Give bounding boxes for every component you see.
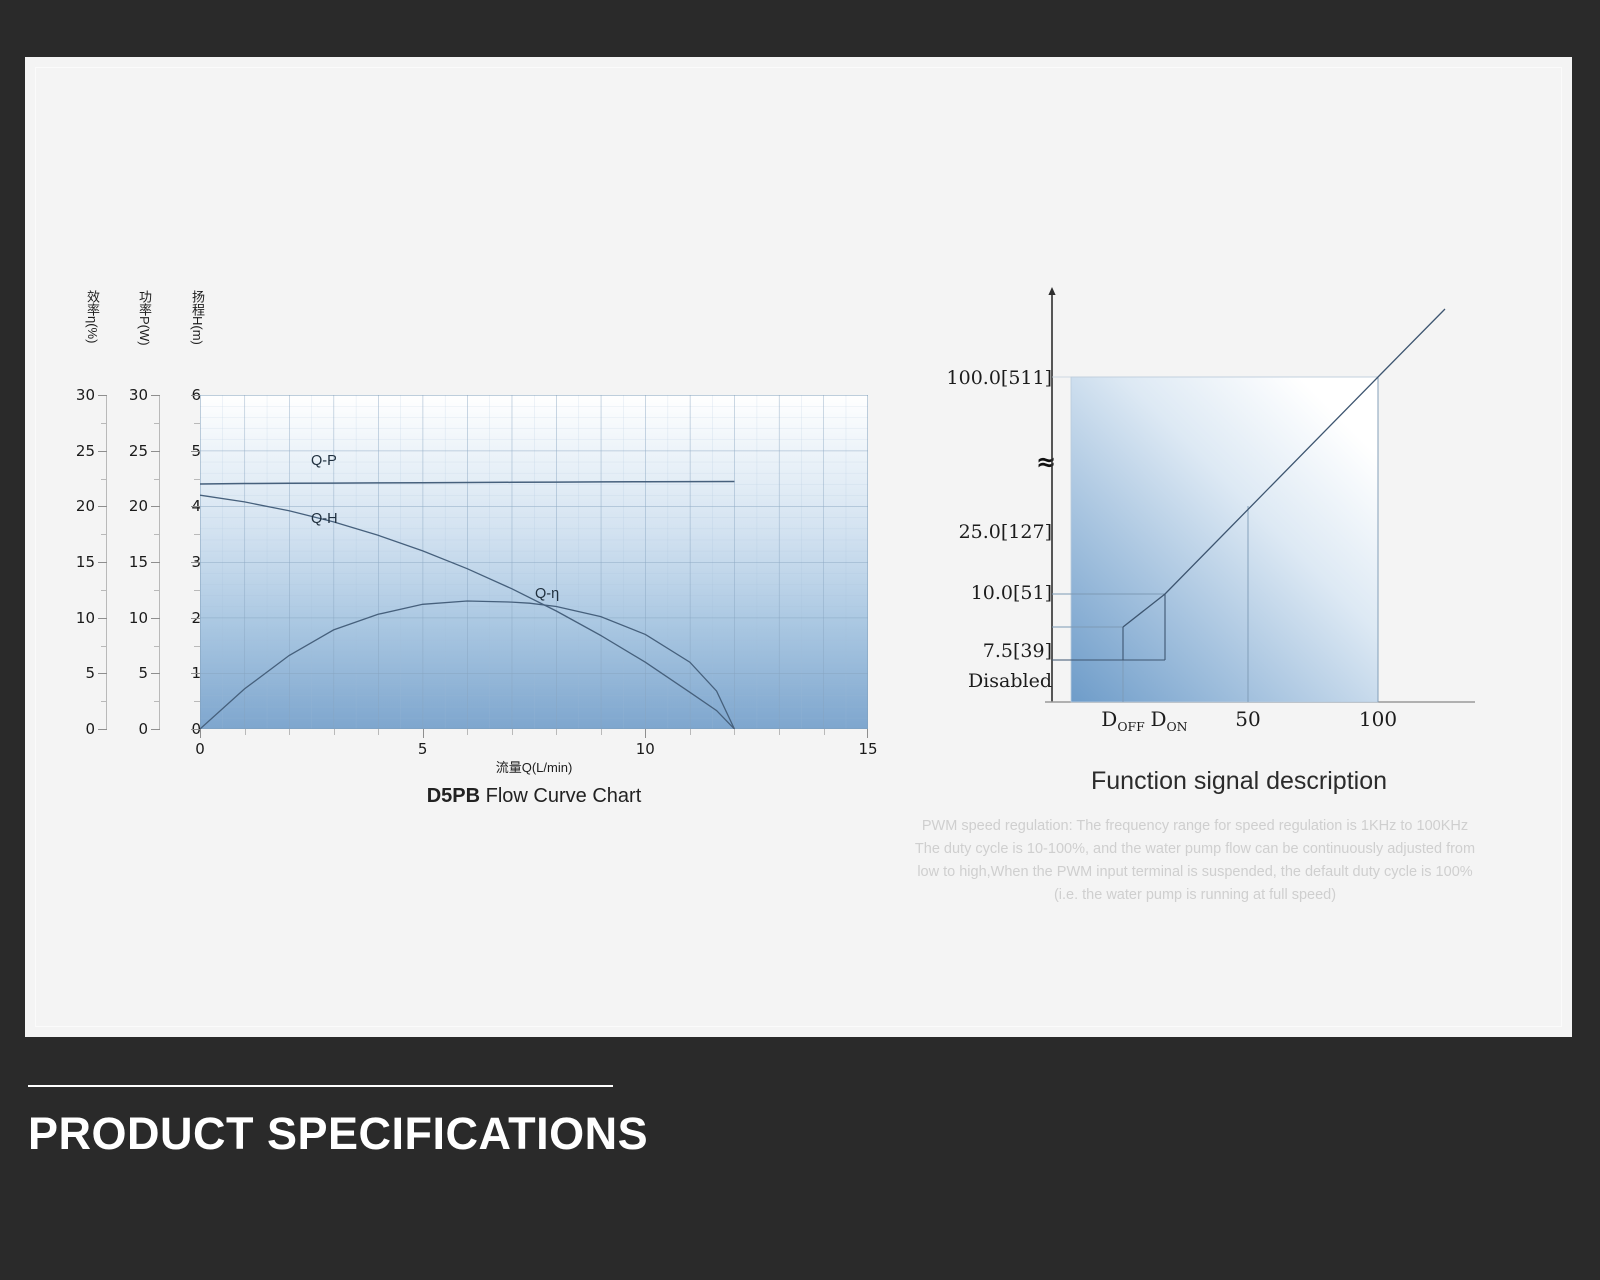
major-gridlines — [200, 395, 868, 729]
axis-tick — [824, 729, 825, 735]
pwm-diagram-title: Function signal description — [905, 767, 1572, 796]
axis-tick — [191, 395, 200, 396]
x-label-100: 100 — [1359, 707, 1397, 731]
axis-tick — [690, 729, 691, 735]
axis-tick — [512, 729, 513, 735]
axis-tick — [734, 729, 735, 735]
pwm-description-line-3: low to high,When the PWM input terminal … — [825, 861, 1565, 884]
tick-label: 15 — [108, 553, 148, 571]
axis-title-head: 扬程H(m) — [188, 290, 207, 385]
axis-tick — [423, 729, 424, 738]
pwm-description-line-2: The duty cycle is 10-100%, and the water… — [825, 838, 1565, 861]
series-label-qh: Q-H — [311, 511, 338, 527]
axis-tick — [601, 729, 602, 735]
axis-tick — [779, 729, 780, 735]
tick-label: 25 — [108, 442, 148, 460]
pwm-description-line-1: PWM speed regulation: The frequency rang… — [825, 815, 1565, 838]
axis-tick — [98, 729, 107, 730]
tick-label: 30 — [108, 386, 148, 404]
tick-label: 25 — [55, 442, 95, 460]
axis-tick — [191, 618, 200, 619]
axis-tick — [467, 729, 468, 735]
tick-label: 20 — [108, 497, 148, 515]
series-label-qeta: Q-η — [535, 586, 559, 602]
tick-label: 10 — [108, 609, 148, 627]
y-label-100: 100.0[511] — [947, 367, 1052, 389]
x-tick-label: 5 — [418, 740, 428, 758]
x-axis-ticks — [200, 729, 868, 739]
y-label-disabled: Disabled — [968, 670, 1052, 692]
axis-tick — [191, 729, 200, 730]
axis-tick — [867, 729, 868, 738]
pwm-x-axis-labels: DOFF DON 50 100 — [1045, 707, 1475, 747]
y-label-7-5: 7.5[39] — [983, 640, 1052, 662]
pwm-y-axis-labels: 100.0[511] ≈ 25.0[127] 10.0[51] 7.5[39] … — [905, 57, 1052, 757]
pwm-signal-diagram: 100.0[511] ≈ 25.0[127] 10.0[51] 7.5[39] … — [905, 57, 1572, 817]
axis-tick — [191, 673, 200, 674]
axis-tick — [191, 451, 200, 452]
tick-label: 0 — [108, 720, 148, 738]
axis-tick — [645, 729, 646, 738]
pwm-description: PWM speed regulation: The frequency rang… — [825, 815, 1565, 907]
tick-label: 15 — [55, 553, 95, 571]
pwm-description-line-4: (i.e. the water pump is running at full … — [825, 884, 1565, 907]
tick-label: 0 — [55, 720, 95, 738]
axis-tick — [191, 506, 200, 507]
series-label-qp: Q-P — [311, 453, 337, 469]
chart-title-model: D5PB — [427, 785, 480, 807]
y-label-10: 10.0[51] — [971, 582, 1052, 604]
y-axis-power: 30 25 20 15 10 5 0 — [100, 395, 160, 729]
plot-area: Q-P Q-H Q-η — [200, 395, 868, 729]
axis-tick — [378, 729, 379, 735]
x-label-50: 50 — [1235, 707, 1260, 731]
y-label-25: 25.0[127] — [959, 521, 1052, 543]
axis-tick — [200, 729, 201, 738]
footer-divider — [28, 1085, 613, 1087]
y-axis-efficiency: 30 25 20 15 10 5 0 — [47, 395, 107, 729]
axis-title-efficiency: 效率η(%) — [83, 290, 102, 385]
pwm-y-axis-arrow — [1048, 287, 1055, 295]
pwm-plot-area — [1045, 287, 1475, 707]
x-label-doff: DOFF — [1101, 707, 1144, 734]
tick-label: 5 — [108, 664, 148, 682]
axis-tick — [334, 729, 335, 735]
tick-label: 5 — [55, 664, 95, 682]
x-tick-label: 0 — [195, 740, 205, 758]
axis-title-power: 功率P(W) — [135, 290, 154, 385]
flow-curve-chart: 效率η(%) 功率P(W) 扬程H(m) 30 25 20 15 10 5 0 — [25, 57, 925, 817]
axis-tick — [245, 729, 246, 735]
tick-label: 10 — [55, 609, 95, 627]
content-panel: 效率η(%) 功率P(W) 扬程H(m) 30 25 20 15 10 5 0 — [25, 57, 1572, 1037]
axis-title-flow: 流量Q(L/min) — [200, 757, 868, 776]
y-axis-head-ticks — [185, 395, 200, 729]
chart-title-rest: Flow Curve Chart — [480, 785, 641, 807]
page-title: PRODUCT SPECIFICATIONS — [28, 1109, 828, 1159]
x-tick-label: 15 — [858, 740, 877, 758]
footer-section: PRODUCT SPECIFICATIONS — [28, 1085, 828, 1159]
x-label-don: DON — [1150, 707, 1187, 734]
axis-tick — [151, 729, 160, 730]
flow-chart-title: D5PB Flow Curve Chart — [200, 785, 868, 808]
axis-tick — [289, 729, 290, 735]
axis-tick — [556, 729, 557, 735]
axis-tick — [191, 562, 200, 563]
x-tick-label: 10 — [636, 740, 655, 758]
tick-label: 20 — [55, 497, 95, 515]
pwm-plot-fill — [1071, 377, 1378, 702]
tick-label: 30 — [55, 386, 95, 404]
